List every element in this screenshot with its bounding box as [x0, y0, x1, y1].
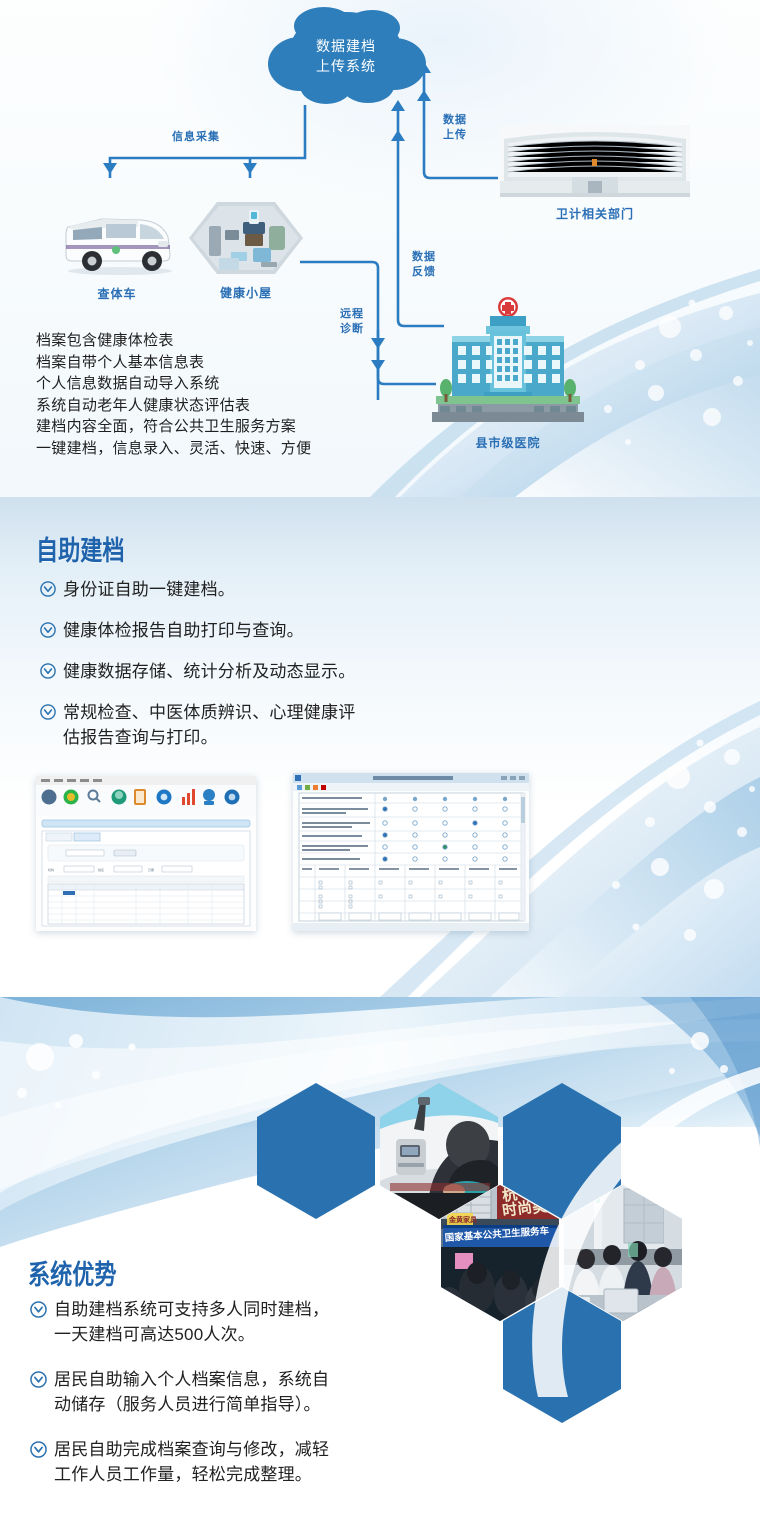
chevron-down-circle-icon — [30, 1371, 47, 1393]
cloud-label: 数据建档 上传系统 — [262, 36, 430, 76]
hospital-illustration — [428, 296, 588, 426]
feature-line: 建档内容全面，符合公共卫生服务方案 — [36, 416, 311, 438]
chevron-down-circle-icon — [40, 622, 56, 643]
poster-page: 数据建档 上传系统 信息采集 数据 上传 数据 反馈 远程 诊断 — [0, 0, 760, 1513]
section3-bullet-list: 自助建档系统可支持多人同时建档， 一天建档可高达500人次。 居民自助输入个人档… — [30, 1297, 500, 1503]
health-cabin-illustration — [187, 200, 305, 276]
section-flow-diagram: 数据建档 上传系统 信息采集 数据 上传 数据 反馈 远程 诊断 — [0, 0, 760, 497]
van-illustration — [58, 205, 176, 277]
list-item: 健康数据存储、统计分析及动态显示。 — [40, 659, 520, 684]
screenshot-archive-management[interactable]: 机构姓名日期 — [36, 776, 256, 931]
section-system-advantages: 杭 州 时尚 美发 国家基本公共卫生服务车 金黄家具 — [0, 997, 760, 1513]
feature-line: 系统自动老年人健康状态评估表 — [36, 395, 311, 417]
list-item-label: 常规检查、中医体质辨识、心理健康评 估报告查询与打印。 — [63, 700, 355, 750]
section-self-service-filing: 自助建档 身份证自助一键建档。 健康体检报告自助打印与查询。 健康数据存储、统计… — [0, 497, 760, 997]
feature-line: 个人信息数据自动导入系统 — [36, 373, 311, 395]
screenshot-health-assessment-form[interactable] — [293, 773, 529, 931]
node-caption-gov: 卫计相关部门 — [500, 205, 690, 222]
flow-label-remote-diagnosis: 远程 诊断 — [340, 307, 364, 337]
node-hospital: 县市级医院 — [428, 296, 588, 451]
svg-text:金黄家具: 金黄家具 — [448, 1215, 477, 1224]
list-item-label: 健康体检报告自助打印与查询。 — [63, 618, 304, 643]
chevron-down-circle-icon — [30, 1441, 47, 1463]
section1-feature-list: 档案包含健康体检表 档案自带个人基本信息表 个人信息数据自动导入系统 系统自动老… — [36, 330, 311, 459]
node-examination-van: 查体车 — [58, 205, 176, 302]
feature-line: 档案包含健康体检表 — [36, 330, 311, 352]
node-caption-hospital: 县市级医院 — [428, 434, 588, 451]
list-item-label: 自助建档系统可支持多人同时建档， 一天建档可高达500人次。 — [54, 1297, 329, 1347]
svg-text:姓名: 姓名 — [98, 867, 104, 872]
svg-text:机构: 机构 — [48, 867, 54, 872]
feature-line: 一键建档，信息录入、灵活、快速、方便 — [36, 438, 311, 460]
chevron-down-circle-icon — [30, 1301, 47, 1323]
list-item: 自助建档系统可支持多人同时建档， 一天建档可高达500人次。 — [30, 1297, 500, 1347]
list-item-label: 身份证自助一键建档。 — [63, 577, 235, 602]
list-item-label: 居民自助完成档案查询与修改，减轻 工作人员工作量，轻松完成整理。 — [54, 1437, 329, 1487]
cloud-node: 数据建档 上传系统 — [262, 6, 430, 114]
node-government-building: 卫计相关部门 — [500, 125, 690, 222]
svg-text:日期: 日期 — [148, 867, 154, 872]
node-caption-cabin: 健康小屋 — [187, 284, 305, 301]
flow-label-collect: 信息采集 — [172, 130, 220, 145]
chevron-down-circle-icon — [40, 704, 56, 725]
feature-line: 档案自带个人基本信息表 — [36, 352, 311, 374]
chevron-down-circle-icon — [40, 581, 56, 602]
flow-label-feedback: 数据 反馈 — [412, 250, 436, 280]
list-item: 健康体检报告自助打印与查询。 — [40, 618, 520, 643]
section2-heading: 自助建档 — [36, 529, 144, 568]
list-item: 居民自助输入个人档案信息，系统自 动储存（服务人员进行简单指导）。 — [30, 1367, 500, 1417]
list-item-label: 健康数据存储、统计分析及动态显示。 — [63, 659, 355, 684]
flow-label-upload: 数据 上传 — [443, 113, 467, 143]
list-item-label: 居民自助输入个人档案信息，系统自 动储存（服务人员进行简单指导）。 — [54, 1367, 329, 1417]
section3-heading: 系统优势 — [28, 1253, 136, 1292]
list-item: 常规检查、中医体质辨识、心理健康评 估报告查询与打印。 — [40, 700, 520, 750]
government-building-illustration — [500, 125, 690, 197]
chevron-down-circle-icon — [40, 663, 56, 684]
node-caption-van: 查体车 — [58, 285, 176, 302]
section2-bullet-list: 身份证自助一键建档。 健康体检报告自助打印与查询。 健康数据存储、统计分析及动态… — [40, 577, 520, 766]
list-item: 居民自助完成档案查询与修改，减轻 工作人员工作量，轻松完成整理。 — [30, 1437, 500, 1487]
node-health-cabin: 健康小屋 — [187, 200, 305, 301]
list-item: 身份证自助一键建档。 — [40, 577, 520, 602]
